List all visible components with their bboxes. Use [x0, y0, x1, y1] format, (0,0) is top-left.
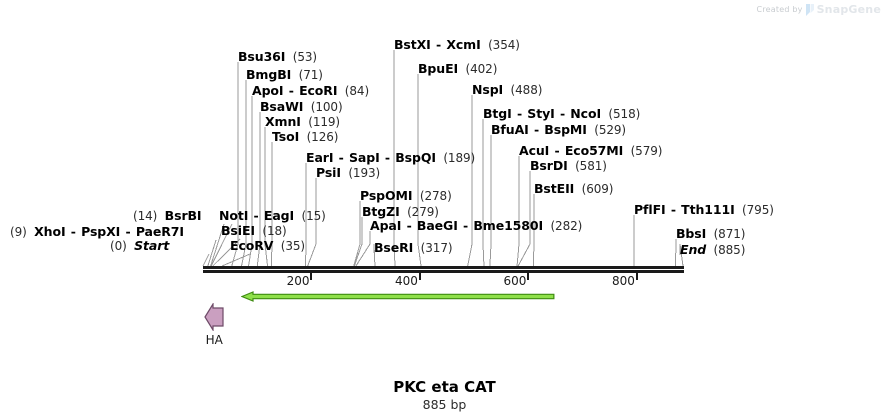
enzyme-site-label[interactable]: XmnI (119): [265, 115, 340, 129]
ha-tag-feature[interactable]: [204, 303, 224, 335]
leader-line: [675, 244, 676, 266]
enzyme-name[interactable]: BsaWI: [260, 99, 303, 114]
ruler-tick: [636, 273, 638, 280]
site-position: (317): [413, 241, 452, 255]
enzyme-name[interactable]: Eco57MI: [565, 143, 623, 158]
enzyme-name[interactable]: EagI: [264, 208, 294, 223]
ruler-tick: [310, 273, 312, 280]
enzyme-site-label[interactable]: NotI - EagI (15): [219, 209, 326, 223]
enzyme-separator: -: [458, 218, 474, 233]
enzyme-name[interactable]: BspQI: [395, 150, 436, 165]
ha-tag-label: HA: [184, 333, 244, 347]
enzyme-name[interactable]: PsiI: [316, 165, 341, 180]
enzyme-separator: -: [248, 208, 264, 223]
enzyme-name[interactable]: AcuI: [519, 143, 549, 158]
enzyme-site-label[interactable]: BtgI - StyI - NcoI (518): [483, 107, 640, 121]
enzyme-name[interactable]: EcoRV: [230, 238, 273, 253]
enzyme-name[interactable]: BstXI: [394, 37, 431, 52]
site-position: (193): [341, 166, 380, 180]
enzyme-name[interactable]: BseRI: [374, 240, 413, 255]
enzyme-separator: -: [555, 106, 571, 121]
enzyme-site-label[interactable]: (9) XhoI - PspXI - PaeR7I: [10, 225, 184, 239]
enzyme-site-label[interactable]: ApoI - EcoRI (84): [252, 84, 369, 98]
enzyme-site-label[interactable]: PsiI (193): [316, 166, 380, 180]
leader-line: [533, 244, 534, 266]
leader-line: [517, 244, 519, 266]
enzyme-separator: -: [549, 143, 565, 158]
enzyme-separator: -: [529, 122, 545, 137]
enzyme-site-label[interactable]: EarI - SapI - BspQI (189): [306, 151, 475, 165]
enzyme-name[interactable]: NspI: [472, 82, 503, 97]
enzyme-name[interactable]: BtgZI: [362, 204, 400, 219]
enzyme-name[interactable]: NcoI: [570, 106, 601, 121]
enzyme-site-label[interactable]: (0) Start: [110, 239, 169, 253]
site-position: (579): [623, 144, 662, 158]
enzyme-name[interactable]: BbsI: [676, 226, 706, 241]
enzyme-site-label[interactable]: BsiEI (18): [221, 224, 287, 238]
enzyme-site-label[interactable]: AcuI - Eco57MI (579): [519, 144, 662, 158]
site-position: (189): [436, 151, 475, 165]
site-position: (354): [481, 38, 520, 52]
leader-line: [308, 244, 316, 266]
enzyme-name[interactable]: BsrDI: [530, 158, 568, 173]
site-position: (126): [299, 130, 338, 144]
enzyme-name[interactable]: BmgBI: [246, 67, 291, 82]
site-position: (488): [503, 83, 542, 97]
enzyme-site-label[interactable]: NspI (488): [472, 83, 542, 97]
enzyme-name[interactable]: PaeR7I: [136, 224, 184, 239]
enzyme-name[interactable]: BtgI: [483, 106, 512, 121]
orf-arrow[interactable]: [241, 287, 555, 306]
ruler-label: 400: [374, 274, 418, 288]
enzyme-name[interactable]: BaeGI: [417, 218, 458, 233]
enzyme-name[interactable]: BpuEI: [418, 61, 458, 76]
leader-line: [518, 244, 530, 266]
site-position: (14): [133, 209, 165, 223]
enzyme-name[interactable]: SapI: [349, 150, 380, 165]
enzyme-site-label[interactable]: BpuEI (402): [418, 62, 497, 76]
enzyme-name[interactable]: BstEII: [534, 181, 574, 196]
enzyme-separator: -: [283, 83, 299, 98]
leader-line: [483, 244, 484, 266]
enzyme-name[interactable]: Tth111I: [681, 202, 734, 217]
enzyme-separator: -: [380, 150, 396, 165]
enzyme-site-label[interactable]: BfuAI - BspMI (529): [491, 123, 626, 137]
enzyme-name[interactable]: PspXI: [81, 224, 120, 239]
site-position: (53): [285, 50, 317, 64]
ruler-label: 200: [265, 274, 309, 288]
enzyme-site-label[interactable]: ApaI - BaeGI - Bme1580I (282): [370, 219, 582, 233]
enzyme-name[interactable]: XmnI: [265, 114, 301, 129]
enzyme-site-label[interactable]: BstEII (609): [534, 182, 613, 196]
site-position: (518): [601, 107, 640, 121]
enzyme-separator: -: [666, 202, 682, 217]
site-position: (100): [303, 100, 342, 114]
enzyme-name[interactable]: BfuAI: [491, 122, 529, 137]
site-position: (279): [400, 205, 439, 219]
enzyme-name[interactable]: XhoI: [34, 224, 65, 239]
enzyme-site-label[interactable]: TsoI (126): [272, 130, 338, 144]
site-position: (529): [587, 123, 626, 137]
enzyme-name[interactable]: Bme1580I: [473, 218, 543, 233]
site-position: (795): [735, 203, 774, 217]
site-position: (278): [412, 189, 451, 203]
site-position: (581): [568, 159, 607, 173]
enzyme-name[interactable]: PflFI: [634, 202, 666, 217]
ruler-tick: [419, 273, 421, 280]
plasmid-map-canvas: Created by SnapGene (9) XhoI - PspXI - P…: [0, 0, 889, 419]
enzyme-site-label[interactable]: BsrDI (581): [530, 159, 607, 173]
leader-line: [222, 254, 250, 266]
enzyme-site-label[interactable]: BstXI - XcmI (354): [394, 38, 520, 52]
enzyme-site-label[interactable]: BmgBI (71): [246, 68, 323, 82]
site-position: (609): [574, 182, 613, 196]
enzyme-site-label[interactable]: BtgZI (279): [362, 205, 439, 219]
enzyme-separator: -: [512, 106, 528, 121]
ruler-label: 800: [591, 274, 635, 288]
enzyme-site-label[interactable]: EcoRV (35): [230, 239, 305, 253]
ruler-tick: [527, 273, 529, 280]
enzyme-separator: -: [66, 224, 82, 239]
site-position: (35): [273, 239, 305, 253]
enzyme-site-label[interactable]: Bsu36I (53): [238, 50, 317, 64]
page-title: PKC eta CAT: [0, 378, 889, 396]
enzyme-site-label[interactable]: (14) BsrBI: [133, 209, 201, 223]
enzyme-separator: -: [333, 150, 349, 165]
leader-line: [490, 244, 491, 266]
enzyme-site-label[interactable]: PspOMI (278): [360, 189, 452, 203]
page-subtitle: 885 bp: [0, 397, 889, 412]
leader-line: [468, 244, 472, 266]
enzyme-name[interactable]: EarI: [306, 150, 333, 165]
enzyme-site-label[interactable]: BseRI (317): [374, 241, 452, 255]
enzyme-name[interactable]: ApaI: [370, 218, 401, 233]
site-position: (0): [110, 239, 134, 253]
enzyme-name[interactable]: BspMI: [544, 122, 587, 137]
enzyme-name[interactable]: NotI: [219, 208, 248, 223]
enzyme-site-label[interactable]: BbsI (871): [676, 227, 745, 241]
feature-name[interactable]: Start: [134, 238, 169, 253]
enzyme-separator: -: [120, 224, 136, 239]
site-position: (15): [294, 209, 326, 223]
ruler-label: 600: [482, 274, 526, 288]
site-position: (402): [458, 62, 497, 76]
site-position: (18): [255, 224, 287, 238]
enzyme-name[interactable]: ApoI: [252, 83, 283, 98]
backbone-bottom-line: [203, 270, 684, 273]
leader-line: [354, 244, 360, 266]
site-position: (885): [706, 243, 745, 257]
site-position: (71): [291, 68, 323, 82]
site-position: (871): [706, 227, 745, 241]
feature-name[interactable]: End: [680, 242, 706, 257]
enzyme-name[interactable]: PspOMI: [360, 188, 412, 203]
enzyme-name[interactable]: EcoRI: [299, 83, 337, 98]
site-position: (119): [301, 115, 340, 129]
site-position: (282): [543, 219, 582, 233]
site-position: (9): [10, 225, 34, 239]
enzyme-site-label[interactable]: PflFI - Tth111I (795): [634, 203, 774, 217]
enzyme-separator: -: [401, 218, 417, 233]
enzyme-name[interactable]: BsrBI: [165, 208, 202, 223]
enzyme-site-label[interactable]: BsaWI (100): [260, 100, 343, 114]
enzyme-separator: -: [431, 37, 447, 52]
site-position: (84): [337, 84, 369, 98]
enzyme-name[interactable]: BsiEI: [221, 223, 255, 238]
enzyme-site-label[interactable]: End (885): [680, 243, 745, 257]
enzyme-name[interactable]: StyI: [527, 106, 554, 121]
enzyme-name[interactable]: Bsu36I: [238, 49, 285, 64]
enzyme-name[interactable]: XcmI: [446, 37, 480, 52]
enzyme-name[interactable]: TsoI: [272, 129, 299, 144]
